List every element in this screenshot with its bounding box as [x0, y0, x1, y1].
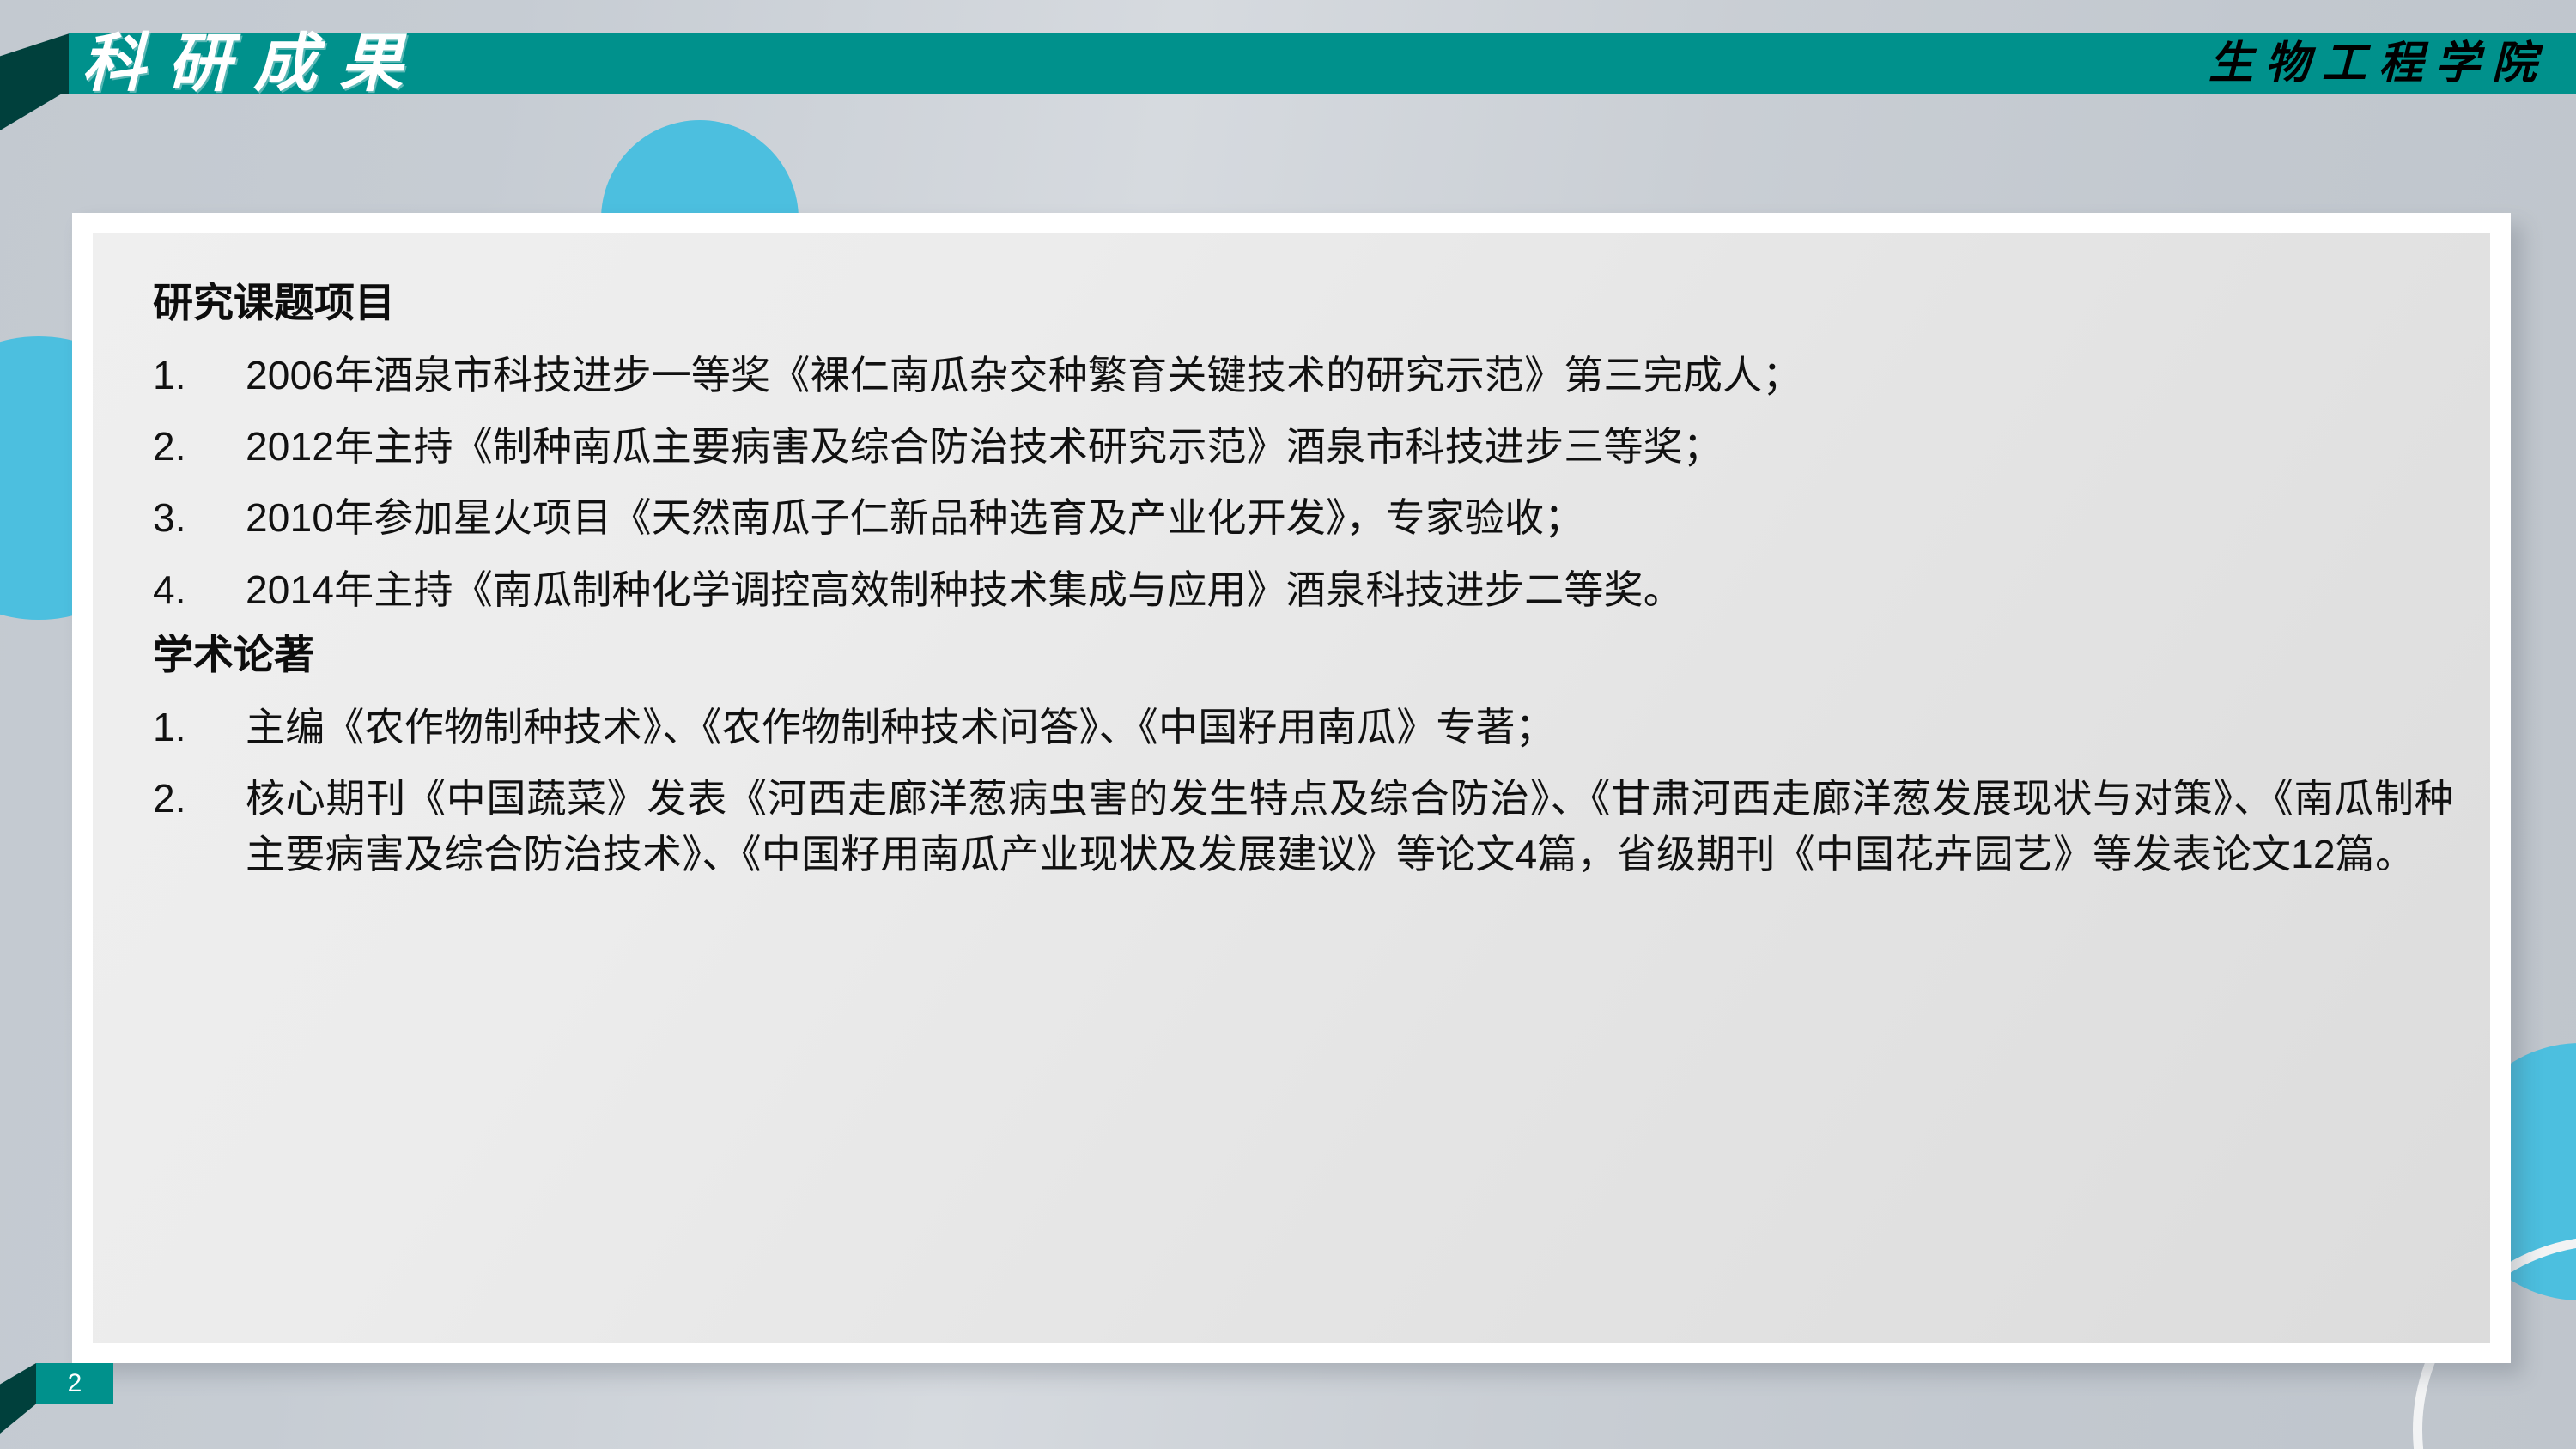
- list-marker: 1.: [153, 700, 246, 755]
- content-card: 研究课题项目 1. 2006年酒泉市科技进步一等奖《裸仁南瓜杂交种繁育关键技术的…: [72, 213, 2511, 1363]
- page-title: 科研成果: [82, 26, 425, 101]
- list-item-text: 2014年主持《南瓜制种化学调控高效制种技术集成与应用》酒泉科技进步二等奖。: [246, 562, 2454, 618]
- slide-canvas: 科研成果 生物工程学院 研究课题项目 1. 2006年酒泉市科技进步一等奖《裸仁…: [0, 0, 2576, 1449]
- research-projects-list: 1. 2006年酒泉市科技进步一等奖《裸仁南瓜杂交种繁育关键技术的研究示范》第三…: [153, 348, 2454, 618]
- list-marker: 2.: [153, 771, 246, 827]
- list-marker: 4.: [153, 562, 246, 618]
- header-ribbon-tail-lower: [0, 94, 72, 130]
- list-item-text: 2010年参加星火项目《天然南瓜子仁新品种选育及产业化开发》，专家验收；: [246, 490, 2454, 546]
- list-item-text: 主编《农作物制种技术》、《农作物制种技术问答》、《中国籽用南瓜》专著；: [246, 700, 2454, 755]
- organization-name: 生物工程学院: [2208, 29, 2549, 98]
- list-marker: 2.: [153, 419, 246, 475]
- list-marker: 1.: [153, 348, 246, 403]
- section-heading-research-projects: 研究课题项目: [153, 282, 2454, 325]
- list-item: 4. 2014年主持《南瓜制种化学调控高效制种技术集成与应用》酒泉科技进步二等奖…: [153, 562, 2454, 618]
- list-item-text: 核心期刊《中国蔬菜》发表《河西走廊洋葱病虫害的发生特点及综合防治》、《甘肃河西走…: [246, 771, 2454, 883]
- list-marker: 3.: [153, 490, 246, 546]
- page-badge-tail: [0, 1363, 36, 1434]
- list-item-text: 2006年酒泉市科技进步一等奖《裸仁南瓜杂交种繁育关键技术的研究示范》第三完成人…: [246, 348, 2454, 403]
- header-band: [69, 33, 2576, 94]
- page-number-badge: 2: [36, 1363, 113, 1404]
- content-panel: 研究课题项目 1. 2006年酒泉市科技进步一等奖《裸仁南瓜杂交种繁育关键技术的…: [93, 233, 2490, 1343]
- list-item: 3. 2010年参加星火项目《天然南瓜子仁新品种选育及产业化开发》，专家验收；: [153, 490, 2454, 546]
- section-heading-publications: 学术论著: [153, 634, 2454, 677]
- list-item: 1. 2006年酒泉市科技进步一等奖《裸仁南瓜杂交种繁育关键技术的研究示范》第三…: [153, 348, 2454, 403]
- list-item-text: 2012年主持《制种南瓜主要病害及综合防治技术研究示范》酒泉市科技进步三等奖；: [246, 419, 2454, 475]
- list-item: 2. 2012年主持《制种南瓜主要病害及综合防治技术研究示范》酒泉市科技进步三等…: [153, 419, 2454, 475]
- list-item: 2. 核心期刊《中国蔬菜》发表《河西走廊洋葱病虫害的发生特点及综合防治》、《甘肃…: [153, 771, 2454, 883]
- header-ribbon-tail: [0, 33, 72, 94]
- publications-list: 1. 主编《农作物制种技术》、《农作物制种技术问答》、《中国籽用南瓜》专著； 2…: [153, 700, 2454, 883]
- list-item: 1. 主编《农作物制种技术》、《农作物制种技术问答》、《中国籽用南瓜》专著；: [153, 700, 2454, 755]
